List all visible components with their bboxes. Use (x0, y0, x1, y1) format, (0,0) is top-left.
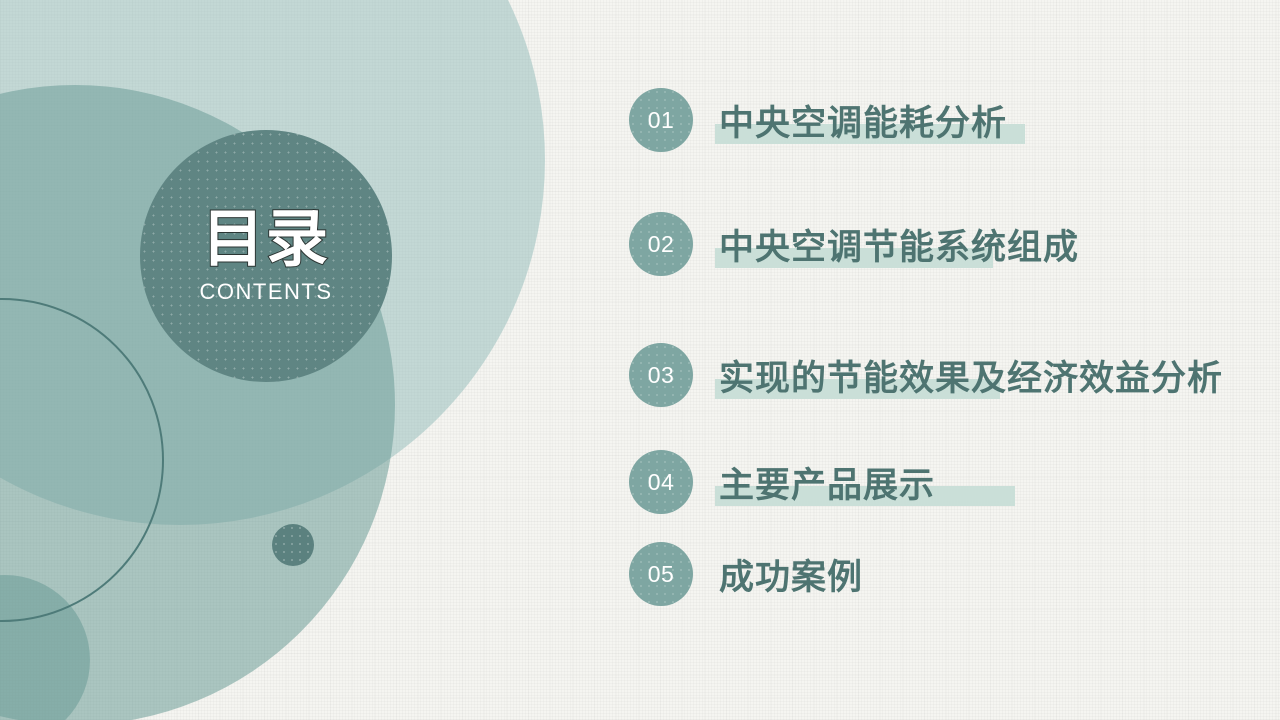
toc-label-wrapper: 主要产品展示 (719, 444, 935, 520)
toc-number-label: 04 (648, 469, 675, 496)
slide-canvas: 目录 CONTENTS 01 中央空调能耗分析 02 中央空调节能系统组成 (0, 0, 1280, 720)
toc-item-label: 成功案例 (719, 549, 863, 600)
decorative-circle-small-dot (272, 524, 314, 566)
list-item[interactable]: 02 中央空调节能系统组成 (620, 206, 1079, 282)
page-title-en: CONTENTS (200, 281, 333, 303)
toc-number-label: 01 (648, 107, 675, 134)
page-title-cn: 目录 (202, 209, 330, 271)
list-item[interactable]: 03 实现的节能效果及经济效益分析 (620, 337, 1223, 413)
toc-label-wrapper: 实现的节能效果及经济效益分析 (719, 337, 1223, 413)
toc-number-badge: 03 (629, 343, 693, 407)
toc-number-label: 03 (648, 362, 675, 389)
toc-number-badge: 04 (629, 450, 693, 514)
toc-label-wrapper: 中央空调能耗分析 (719, 82, 1007, 158)
toc-label-wrapper: 成功案例 (719, 536, 863, 612)
toc-item-label: 中央空调节能系统组成 (719, 219, 1079, 270)
toc-number-badge: 01 (629, 88, 693, 152)
toc-number-badge: 05 (629, 542, 693, 606)
toc-item-label: 中央空调能耗分析 (719, 95, 1007, 146)
list-item[interactable]: 04 主要产品展示 (620, 444, 935, 520)
toc-number-label: 02 (648, 231, 675, 258)
contents-title-circle: 目录 CONTENTS (140, 130, 392, 382)
toc-item-label: 主要产品展示 (719, 457, 935, 508)
toc-number-label: 05 (648, 561, 675, 588)
toc-number-badge: 02 (629, 212, 693, 276)
table-of-contents-list: 01 中央空调能耗分析 02 中央空调节能系统组成 03 实现的节能效果及经济效… (620, 60, 1260, 660)
list-item[interactable]: 05 成功案例 (620, 536, 863, 612)
toc-item-label: 实现的节能效果及经济效益分析 (719, 350, 1223, 401)
list-item[interactable]: 01 中央空调能耗分析 (620, 82, 1007, 158)
toc-label-wrapper: 中央空调节能系统组成 (719, 206, 1079, 282)
